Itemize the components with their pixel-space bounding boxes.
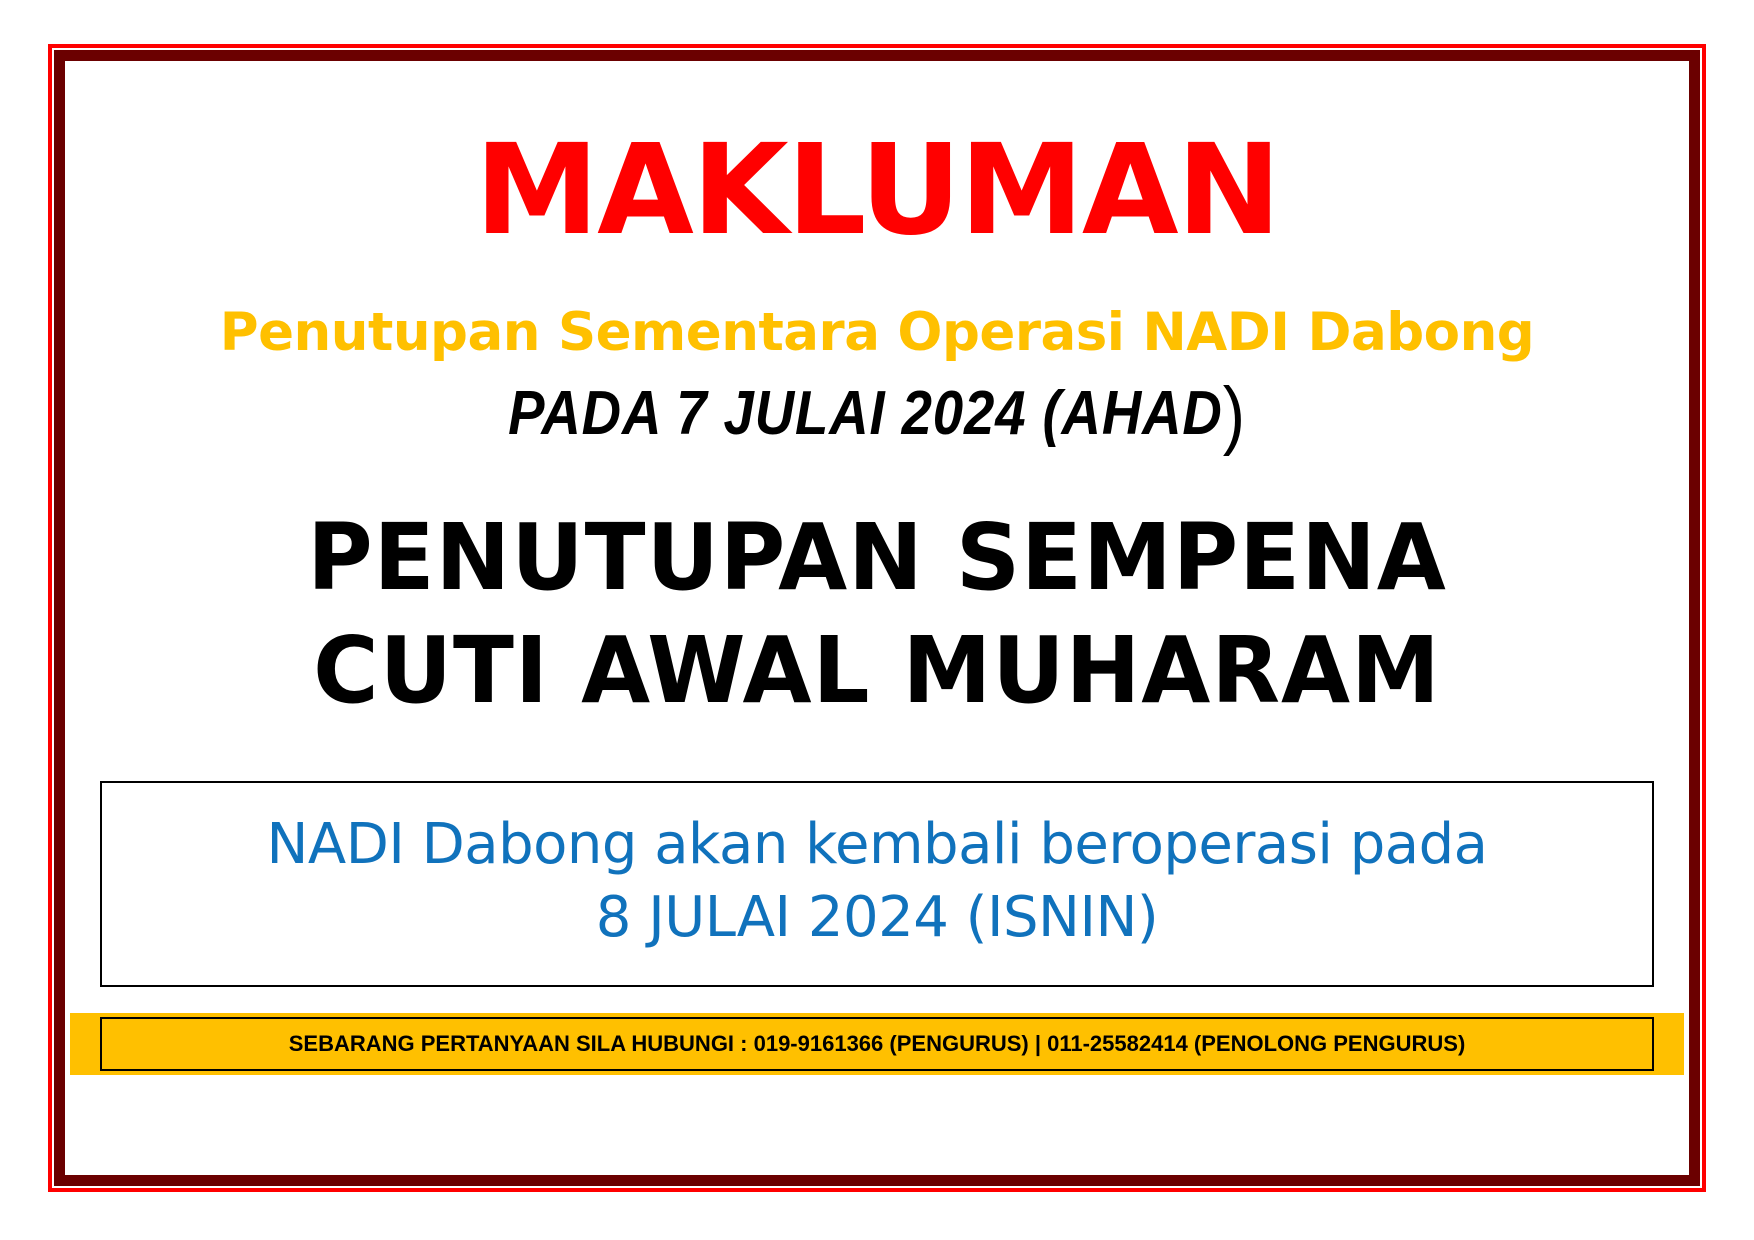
poster-dateline: PADA 7 JULAI 2024 (AHAD): [167, 375, 1587, 455]
notice-line-2: 8 JULAI 2024 (ISNIN): [122, 882, 1632, 955]
reopening-notice-box: NADI Dabong akan kembali beroperasi pada…: [100, 781, 1654, 987]
contact-footer-box: SEBARANG PERTANYAAN SILA HUBUNGI : 019-9…: [100, 1017, 1654, 1071]
notice-poster: MAKLUMAN Penutupan Sementara Operasi NAD…: [0, 0, 1754, 1240]
poster-headline: PENUTUPAN SEMPENA CUTI AWAL MUHARAM: [70, 502, 1684, 726]
notice-line-1: NADI Dabong akan kembali beroperasi pada: [122, 809, 1632, 882]
headline-line-2: CUTI AWAL MUHARAM: [94, 615, 1660, 727]
poster-title: MAKLUMAN: [70, 128, 1684, 253]
headline-line-1: PENUTUPAN SEMPENA: [94, 502, 1660, 614]
contact-footer-band: SEBARANG PERTANYAAN SILA HUBUNGI : 019-9…: [70, 1013, 1684, 1075]
poster-content: MAKLUMAN Penutupan Sementara Operasi NAD…: [70, 66, 1684, 1170]
dateline-text: PADA 7 JULAI 2024 (AHAD: [508, 379, 1223, 448]
dateline-closing-paren: ): [1223, 372, 1246, 457]
contact-footer-text: SEBARANG PERTANYAAN SILA HUBUNGI : 019-9…: [289, 1031, 1466, 1056]
poster-subtitle: Penutupan Sementara Operasi NADI Dabong: [70, 305, 1684, 361]
